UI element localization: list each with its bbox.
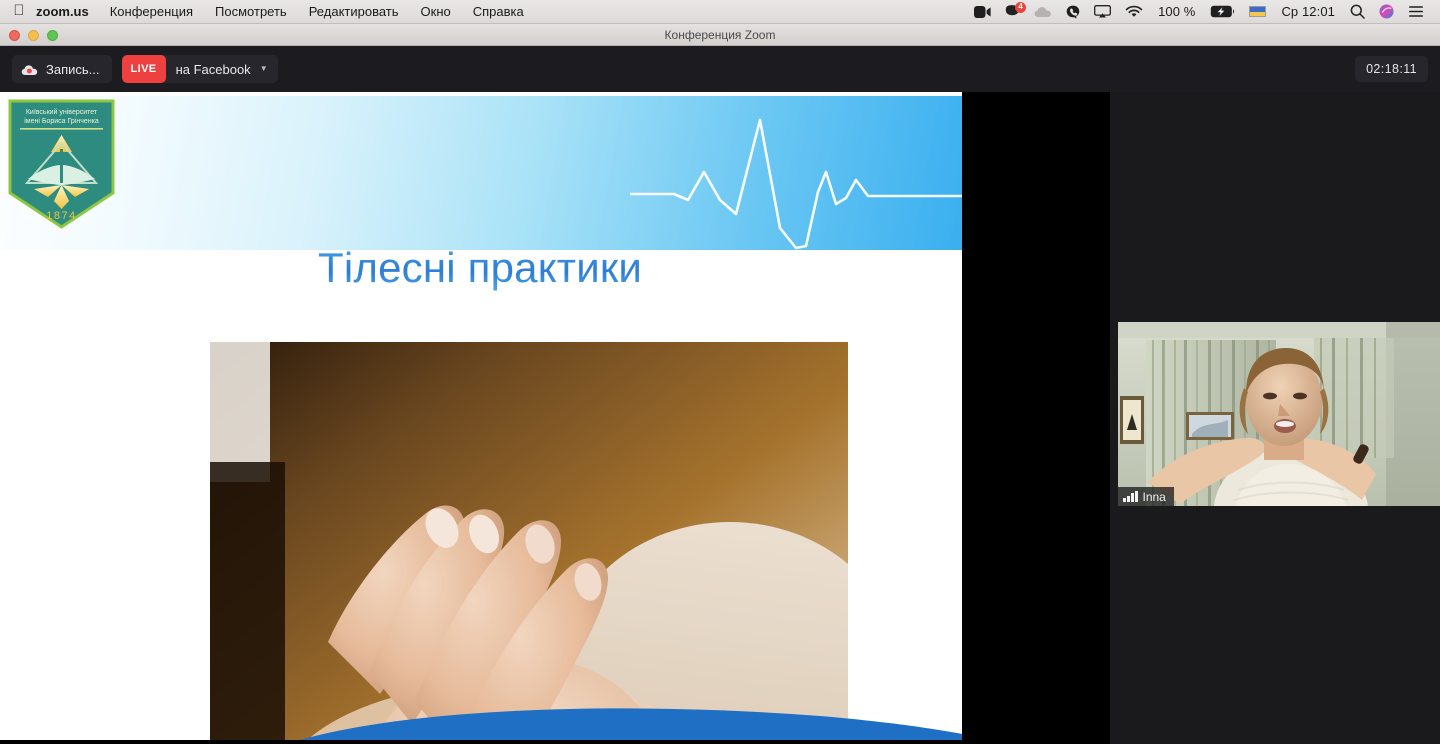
menu-bar-items:  zoom.us Конференция Посмотреть Редакти… (0, 0, 535, 23)
cloud-recording-icon (21, 63, 38, 76)
zoom-menu-icon[interactable] (967, 0, 998, 24)
participant-name-badge: Inna (1118, 487, 1174, 506)
macos-menu-bar:  zoom.us Конференция Посмотреть Редакти… (0, 0, 1440, 24)
svg-text:імені Бориса Грінченка: імені Бориса Грінченка (24, 117, 99, 125)
meeting-stage: Київський університет імені Бориса Грінч… (0, 92, 1110, 744)
live-stream-button[interactable]: LIVE на Facebook ▼ (122, 55, 278, 83)
hand-massage-photo (210, 342, 848, 740)
window-title-bar: Конференция Zoom (0, 24, 1440, 46)
participant-name: Inna (1143, 490, 1166, 504)
zoom-meeting-window:  zoom.us Конференция Посмотреть Редакти… (0, 0, 1440, 744)
audio-level-bars-icon (1123, 491, 1138, 502)
menu-item-window[interactable]: Окно (410, 0, 462, 24)
live-badge: LIVE (122, 55, 166, 83)
minimize-button[interactable] (28, 30, 39, 41)
svg-text:1874: 1874 (46, 210, 76, 222)
menu-item-zoom-us[interactable]: zoom.us (30, 0, 99, 24)
wifi-icon[interactable] (1118, 0, 1150, 24)
participants-panel: Inna (1110, 92, 1440, 744)
battery-percent-label: 100 % (1150, 0, 1203, 24)
university-crest-logo: Київський університет імені Бориса Грінч… (4, 97, 119, 231)
menu-item-edit[interactable]: Редактировать (298, 0, 410, 24)
menu-bar-clock[interactable]: Ср 12:01 (1273, 0, 1343, 24)
cloud-upload-icon[interactable] (1027, 0, 1059, 24)
menu-item-view[interactable]: Посмотреть (204, 0, 298, 24)
live-target-label: на Facebook (166, 62, 260, 77)
share-letterbox (962, 92, 1110, 744)
slide-header-banner (0, 96, 962, 250)
zoom-button[interactable] (47, 30, 58, 41)
window-traffic-lights (9, 24, 58, 46)
ukrainian-flag-icon[interactable] (1242, 0, 1273, 24)
siri-icon[interactable] (1372, 0, 1401, 24)
control-center-icon[interactable] (1401, 0, 1431, 24)
menu-item-help[interactable]: Справка (462, 0, 535, 24)
recording-button[interactable]: Запись... (12, 55, 112, 83)
blue-wave-shape (0, 700, 962, 740)
spotlight-search-icon[interactable] (1343, 0, 1372, 24)
battery-charging-icon[interactable] (1203, 0, 1242, 24)
shared-screen-slide[interactable]: Київський університет імені Бориса Грінч… (0, 92, 962, 740)
zoom-top-toolbar: Запись... LIVE на Facebook ▼ 02:18:11 (0, 46, 1440, 92)
recording-label: Запись... (46, 62, 100, 77)
airplay-icon[interactable] (1087, 0, 1118, 24)
window-title: Конференция Zoom (665, 28, 776, 42)
slide-title: Тілесні практики (318, 244, 642, 292)
participant-video-inna[interactable]: Inna (1118, 322, 1440, 506)
chevron-down-icon[interactable]: ▼ (260, 65, 268, 73)
notification-count: 4 (1015, 2, 1026, 13)
meeting-timer: 02:18:11 (1355, 56, 1428, 82)
close-button[interactable] (9, 30, 20, 41)
menu-bar-status-items: 4 100 % (967, 0, 1440, 23)
viber-icon[interactable] (1059, 0, 1087, 24)
menu-item-conference[interactable]: Конференция (99, 0, 204, 24)
notification-badge-icon[interactable]: 4 (998, 0, 1027, 24)
apple-logo-icon[interactable]:  (8, 0, 30, 24)
svg-text:Київський університет: Київський університет (26, 108, 98, 116)
heartbeat-line-decoration (630, 96, 962, 250)
